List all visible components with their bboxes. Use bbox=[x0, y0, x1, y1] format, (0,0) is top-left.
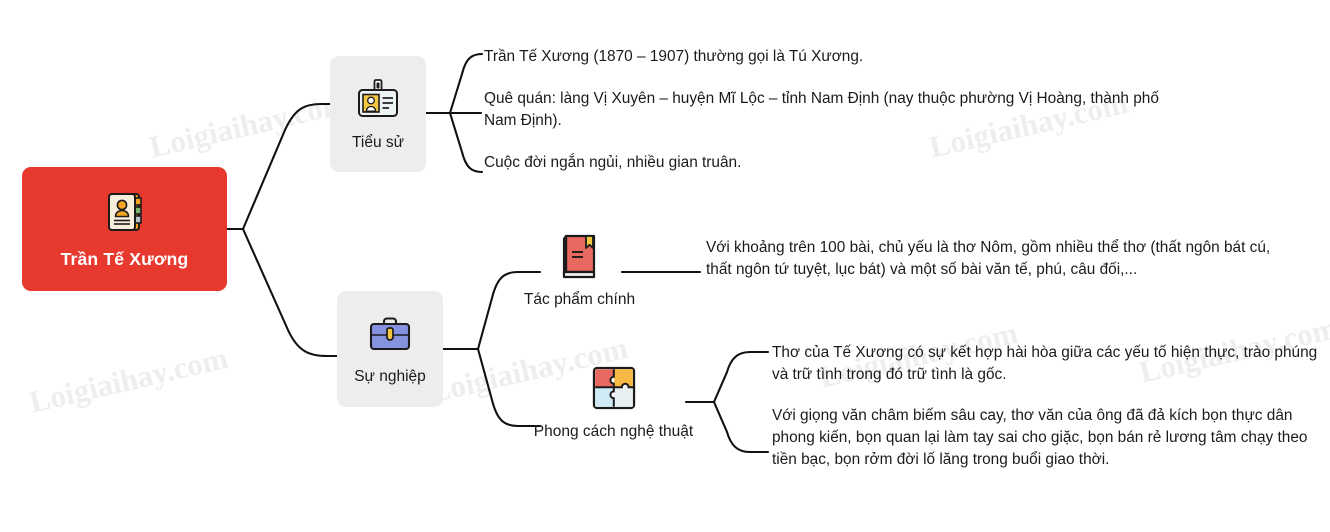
connector-style-leaf-2 bbox=[714, 402, 768, 452]
branch-label-tieu-su: Tiểu sử bbox=[352, 134, 404, 152]
branch-label-su-nghiep: Sự nghiệp bbox=[354, 368, 426, 386]
leaf-text-style-1: Thơ của Tế Xương có sự kết hợp hài hòa g… bbox=[772, 342, 1328, 386]
leaf-text-works-1: Với khoảng trên 100 bài, chủ yếu là thơ … bbox=[706, 237, 1298, 281]
address-book-icon bbox=[102, 189, 148, 240]
branch-node-tieu-su[interactable]: Tiểu sử bbox=[330, 56, 426, 172]
root-label: Trần Tế Xương bbox=[61, 249, 189, 270]
connector-bio-leaf-1 bbox=[450, 54, 482, 113]
watermark: Loigiaihay.com bbox=[26, 340, 231, 421]
subnode-phong-cach-nghe-thuat[interactable]: Phong cách nghệ thuật bbox=[508, 362, 719, 441]
root-node[interactable]: Trần Tế Xương bbox=[22, 167, 227, 291]
book-icon bbox=[556, 230, 604, 287]
branch-node-su-nghiep[interactable]: Sự nghiệp bbox=[337, 291, 443, 407]
id-badge-icon bbox=[352, 77, 404, 128]
sublabel-phong-cach-nghe-thuat: Phong cách nghệ thuật bbox=[534, 423, 693, 441]
connector-style-leaf-1 bbox=[714, 352, 768, 402]
puzzle-icon bbox=[588, 362, 640, 419]
subnode-tac-pham-chinh[interactable]: Tác phẩm chính bbox=[507, 230, 652, 309]
mindmap-canvas: Loigiaihay.com Loigiaihay.com Loigiaihay… bbox=[0, 0, 1330, 532]
briefcase-icon bbox=[366, 313, 414, 362]
leaf-text-bio-3: Cuộc đời ngắn ngủi, nhiều gian truân. bbox=[484, 152, 1084, 174]
connector-bio-leaf-3 bbox=[450, 113, 482, 172]
watermark: Loigiaihay.com bbox=[146, 85, 351, 166]
leaf-text-bio-1: Trần Tế Xương (1870 – 1907) thường gọi l… bbox=[484, 46, 1184, 68]
connector-root-to-career bbox=[243, 229, 337, 356]
leaf-text-style-2: Với giọng văn châm biếm sâu cay, thơ văn… bbox=[772, 405, 1324, 471]
sublabel-tac-pham-chinh: Tác phẩm chính bbox=[524, 291, 635, 309]
leaf-text-bio-2: Quê quán: làng Vị Xuyên – huyện Mĩ Lộc –… bbox=[484, 88, 1184, 132]
